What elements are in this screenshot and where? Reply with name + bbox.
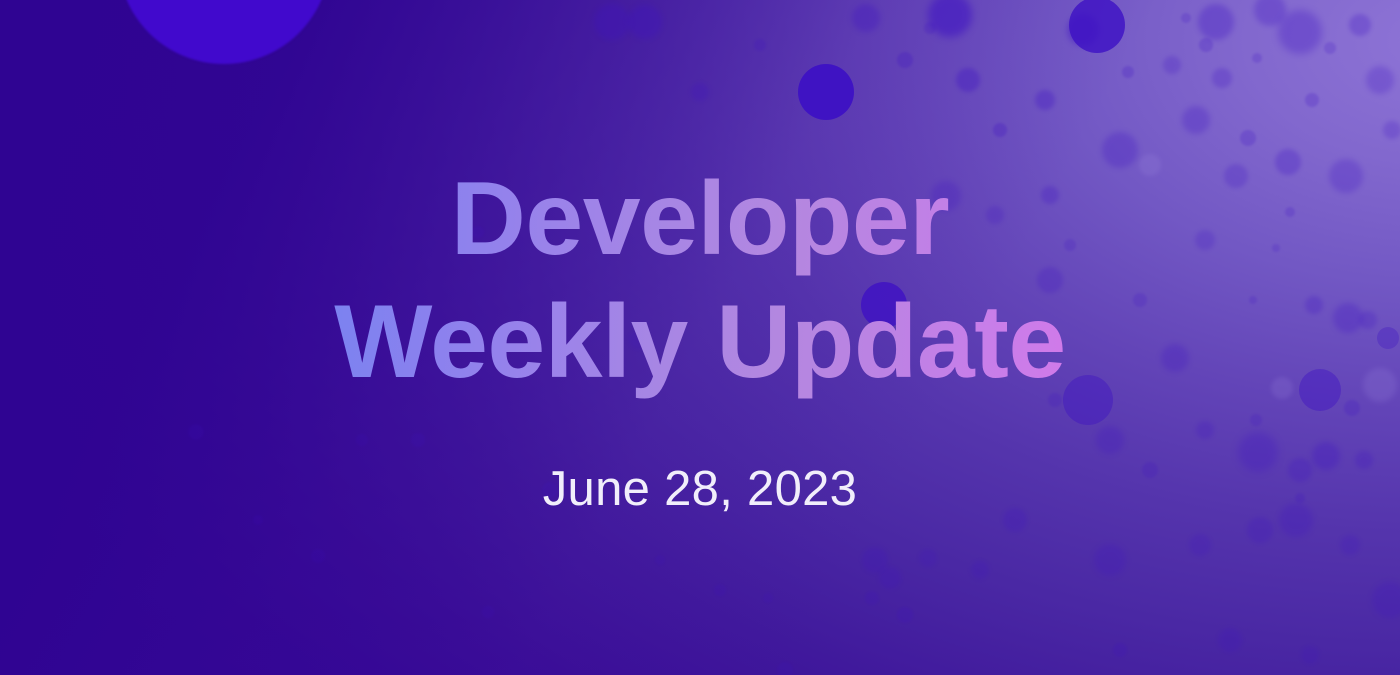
page-title-line-2: Weekly Update <box>334 284 1065 400</box>
page-title-line-1: Developer <box>451 161 949 277</box>
slide-date: June 28, 2023 <box>543 461 858 517</box>
title-slide: DeveloperWeekly Update June 28, 2023 <box>0 0 1400 675</box>
page-title: DeveloperWeekly Update <box>334 158 1065 403</box>
slide-content: DeveloperWeekly Update June 28, 2023 <box>0 0 1400 675</box>
